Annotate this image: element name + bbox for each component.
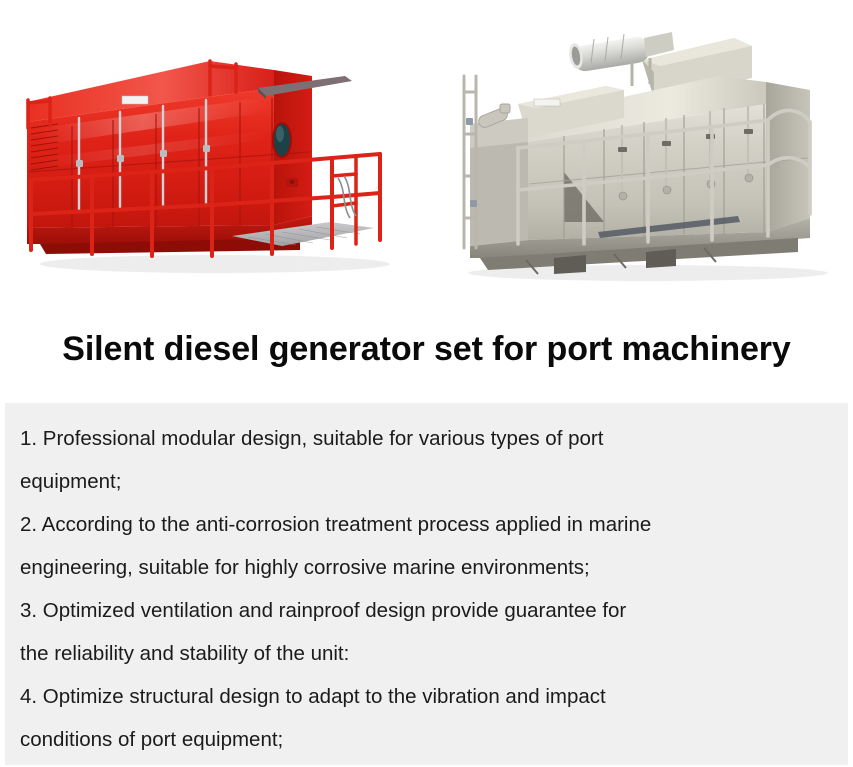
description-line-1: 1. Professional modular design, suitable… — [20, 417, 838, 460]
product-description-panel: 1. Professional modular design, suitable… — [5, 403, 848, 765]
red-generator-illustration — [0, 0, 420, 300]
description-line-4: engineering, suitable for highly corrosi… — [20, 546, 838, 589]
grey-generator-photo[interactable] — [418, 0, 853, 300]
product-title-block: Silent diesel generator set for port mac… — [0, 300, 853, 400]
description-line-5: 3. Optimized ventilation and rainproof d… — [20, 589, 838, 632]
red-generator-photo[interactable] — [0, 0, 420, 300]
grey-generator-illustration — [418, 0, 853, 300]
description-line-8: conditions of port equipment; — [20, 718, 838, 761]
description-line-3: 2. According to the anti-corrosion treat… — [20, 503, 838, 546]
description-line-2: equipment; — [20, 460, 838, 503]
page-title: Silent diesel generator set for port mac… — [7, 328, 846, 372]
description-line-7: 4. Optimize structural design to adapt t… — [20, 675, 838, 718]
product-image-gallery — [0, 0, 853, 300]
description-line-6: the reliability and stability of the uni… — [20, 632, 838, 675]
